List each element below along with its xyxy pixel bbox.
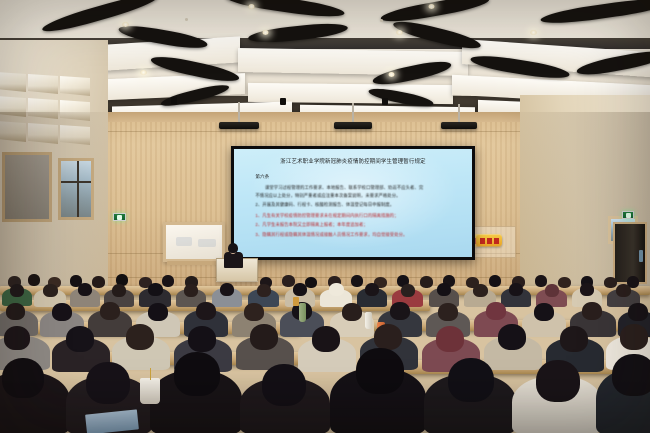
- ceiling-spotlight: [388, 72, 395, 77]
- audience-head: [535, 275, 547, 287]
- audience-head: [293, 283, 307, 296]
- audience-head: [148, 283, 163, 296]
- audience-head: [86, 362, 130, 404]
- audience-head: [390, 302, 410, 320]
- slide-title: 浙江艺术职业学院新冠肺炎疫情防控期间学生管理暂行规定: [248, 156, 457, 164]
- audience-head: [436, 326, 464, 352]
- audience-head: [558, 277, 571, 288]
- audience-head: [604, 277, 617, 288]
- audience-head: [184, 284, 198, 297]
- audience-head: [545, 284, 559, 297]
- audience-head: [616, 284, 631, 297]
- ceiling-light-fixture: [280, 98, 286, 105]
- water-bottle: [299, 303, 306, 322]
- slide-body-line: 不情况应以上处分，特别严重者或应注重本次备案说明，未要求严格处分。: [255, 193, 400, 199]
- audience-head: [262, 364, 306, 406]
- audience-head: [580, 283, 594, 296]
- audience-head: [534, 303, 554, 321]
- ceiling-light-fixture: [382, 98, 388, 105]
- cup-straw: [150, 368, 151, 380]
- audience-head: [560, 326, 588, 352]
- audience-head: [374, 324, 402, 350]
- door-handle: [639, 250, 643, 262]
- whiteboard-tray: [167, 261, 223, 265]
- slide-red-line: 3、隐瞒其行程或隐瞒其体温情况或接触人员情况工作要求，均自觉接受处分。: [255, 232, 407, 238]
- audience-head: [250, 324, 278, 350]
- audience-head: [438, 303, 458, 321]
- audience-head: [536, 360, 580, 402]
- audience-head-cap: [329, 283, 344, 296]
- wall-banner-text: [476, 235, 502, 246]
- audience-head: [437, 283, 451, 296]
- sculpted-acoustic-panel: [0, 72, 26, 92]
- drink-cup: [140, 378, 160, 404]
- audience-head: [365, 283, 379, 296]
- audience-head: [78, 283, 92, 296]
- audience-head: [351, 275, 363, 287]
- audience-head: [10, 284, 24, 297]
- audience-head: [92, 276, 105, 288]
- audience-head: [489, 275, 501, 287]
- speaker-pole: [458, 104, 460, 124]
- wall-shading-left: [0, 112, 120, 290]
- exit-sign-icon: [622, 211, 634, 219]
- whiteboard-marking: [176, 237, 192, 246]
- sculpted-acoustic-panel: [60, 76, 90, 96]
- speaker-pole: [238, 102, 240, 124]
- notebook-paper: [85, 409, 139, 433]
- audience-head: [66, 326, 94, 352]
- audience-head: [220, 283, 234, 296]
- presenter-body: [224, 252, 243, 268]
- audience-head: [312, 326, 340, 352]
- ceiling-spotlight: [140, 70, 147, 75]
- lecture-hall-photo: 浙江艺术职业学院新冠肺炎疫情防控期间学生管理暂行规定 第六条 课堂学习过程管理的…: [0, 0, 650, 433]
- ceiling-speaker: [219, 122, 259, 129]
- exit-sign-icon: [113, 213, 126, 221]
- audience-head: [174, 352, 220, 396]
- slide-red-line: 1、凡生有关学校疫情防控管理要求未在规定期间内执行口的隔离措施的；: [255, 213, 398, 219]
- ceiling-spotlight: [530, 30, 537, 35]
- audience-head: [196, 302, 216, 320]
- desk-item: [293, 297, 299, 306]
- ceiling-sprinkler: [185, 18, 188, 21]
- audience-head-beanie: [448, 358, 494, 402]
- ceiling-spotlight: [122, 22, 129, 27]
- audience-head: [473, 284, 488, 297]
- audience-head: [420, 276, 433, 288]
- sculpted-acoustic-panel: [28, 74, 58, 94]
- whiteboard-marking: [198, 239, 216, 247]
- ceiling-light-fixture: [171, 97, 177, 104]
- audience-head: [509, 283, 523, 296]
- audience-head: [100, 302, 120, 320]
- audience-head: [148, 303, 168, 321]
- ceiling-speaker: [334, 122, 372, 129]
- audience-head: [628, 303, 648, 321]
- slide-body-line: 课堂学习过程管理的工作要求、本地报告、联系学校口管理部、劝返不应头者、完: [265, 185, 423, 191]
- audience-head: [4, 326, 30, 350]
- audience-head: [52, 303, 72, 321]
- audience-head: [582, 302, 602, 320]
- audience-head: [356, 348, 404, 394]
- projection-screen[interactable]: 浙江艺术职业学院新冠肺炎疫情防控期间学生管理暂行规定 第六条 课堂学习过程管理的…: [231, 146, 475, 260]
- audience-head: [257, 284, 271, 297]
- ceiling-spotlight: [396, 30, 403, 35]
- audience-head: [162, 275, 174, 287]
- slide-body-line: 2、开展及其健康码、行程卡、核酸检测报告、体温登记每日申报制度。: [255, 202, 394, 208]
- slide-section-label: 第六条: [255, 174, 269, 180]
- whiteboard: [163, 222, 225, 262]
- audience-head: [342, 303, 362, 321]
- audience-head: [498, 324, 526, 350]
- audience-head: [28, 274, 40, 286]
- ceiling-spotlight: [262, 30, 269, 35]
- presenter-hair: [228, 243, 238, 253]
- ceiling-spotlight: [428, 4, 435, 9]
- slide-surface: 浙江艺术职业学院新冠肺炎疫情防控期间学生管理暂行规定 第六条 课堂学习过程管理的…: [234, 149, 472, 257]
- audience-head: [305, 277, 317, 288]
- speaker-pole: [352, 103, 354, 124]
- exit-door: [613, 222, 647, 284]
- ceiling-speaker: [441, 122, 477, 129]
- audience-head: [620, 324, 648, 350]
- audience-head: [401, 284, 415, 297]
- audience-head: [2, 358, 44, 398]
- audience-head: [612, 354, 650, 396]
- audience-head: [188, 326, 216, 352]
- audience-head: [112, 284, 126, 297]
- thermos-bottle: [365, 312, 372, 329]
- audience-head: [244, 303, 264, 321]
- audience-head: [43, 284, 58, 297]
- ceiling-spotlight: [248, 4, 255, 9]
- audience-head: [6, 303, 25, 320]
- audience-head: [126, 324, 154, 350]
- ceiling-sprinkler: [380, 19, 383, 22]
- audience-head: [486, 302, 506, 320]
- slide-red-line: 2、凡学生未报告本院又立即隔离上报者；本年度追加者；: [255, 222, 367, 228]
